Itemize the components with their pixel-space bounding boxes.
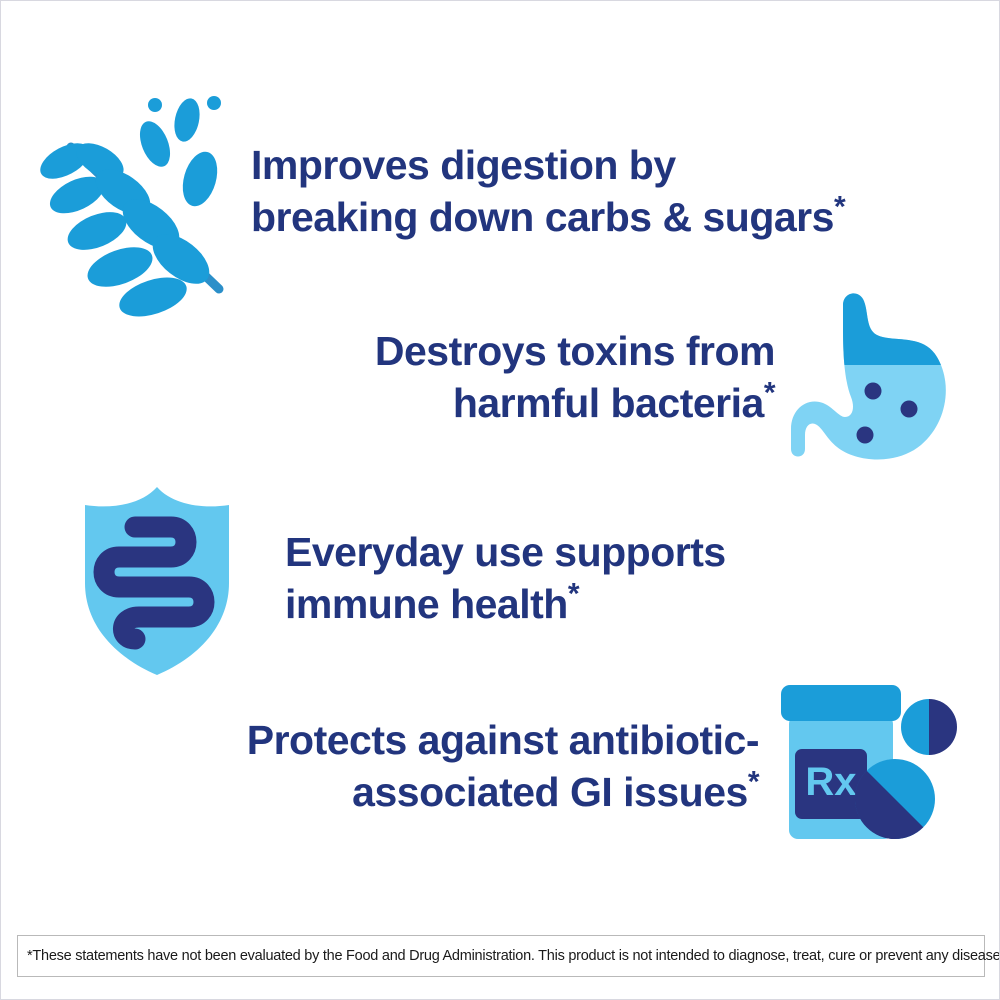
benefit-text-digestion: Improves digestion by breaking down carb… xyxy=(251,140,845,243)
benefit-row-digestion: Improves digestion by breaking down carb… xyxy=(37,89,967,294)
benefit-line-1: Improves digestion by xyxy=(251,142,676,188)
footnote-marker: * xyxy=(764,376,775,409)
benefit-text-antibiotic: Protects against antibiotic- associated … xyxy=(247,715,759,818)
stomach-icon xyxy=(781,283,971,473)
benefit-text-immune: Everyday use supports immune health* xyxy=(285,527,726,630)
benefit-line-1: Destroys toxins from xyxy=(375,328,775,374)
product-benefits-infographic: Improves digestion by breaking down carb… xyxy=(0,0,1000,1000)
benefit-line-2: breaking down carbs & sugars xyxy=(251,194,834,240)
pill-bottle-icon: Rx xyxy=(771,677,971,857)
benefit-line-1: Everyday use supports xyxy=(285,529,726,575)
benefit-line-2: harmful bacteria xyxy=(453,380,764,426)
benefit-row-toxins: Destroys toxins from harmful bacteria* xyxy=(31,283,971,473)
shield-intestine-icon xyxy=(57,479,257,679)
benefit-row-immune: Everyday use supports immune health* xyxy=(57,479,977,679)
benefit-line-1: Protects against antibiotic- xyxy=(247,717,759,763)
wheat-stalk-icon xyxy=(37,89,237,294)
rx-label-text: Rx xyxy=(805,760,856,804)
pill-large xyxy=(855,759,935,839)
footnote-marker: * xyxy=(834,190,845,223)
disclaimer-text: *These statements have not been evaluate… xyxy=(27,948,1000,964)
benefit-text-toxins: Destroys toxins from harmful bacteria* xyxy=(375,326,775,429)
benefit-row-antibiotic: Protects against antibiotic- associated … xyxy=(51,677,971,857)
benefit-line-2: immune health xyxy=(285,581,568,627)
disclaimer-box: *These statements have not been evaluate… xyxy=(17,935,985,977)
footnote-marker: * xyxy=(568,577,579,610)
benefit-line-2: associated GI issues xyxy=(352,769,748,815)
footnote-marker: * xyxy=(748,765,759,798)
pill-small xyxy=(901,699,957,755)
